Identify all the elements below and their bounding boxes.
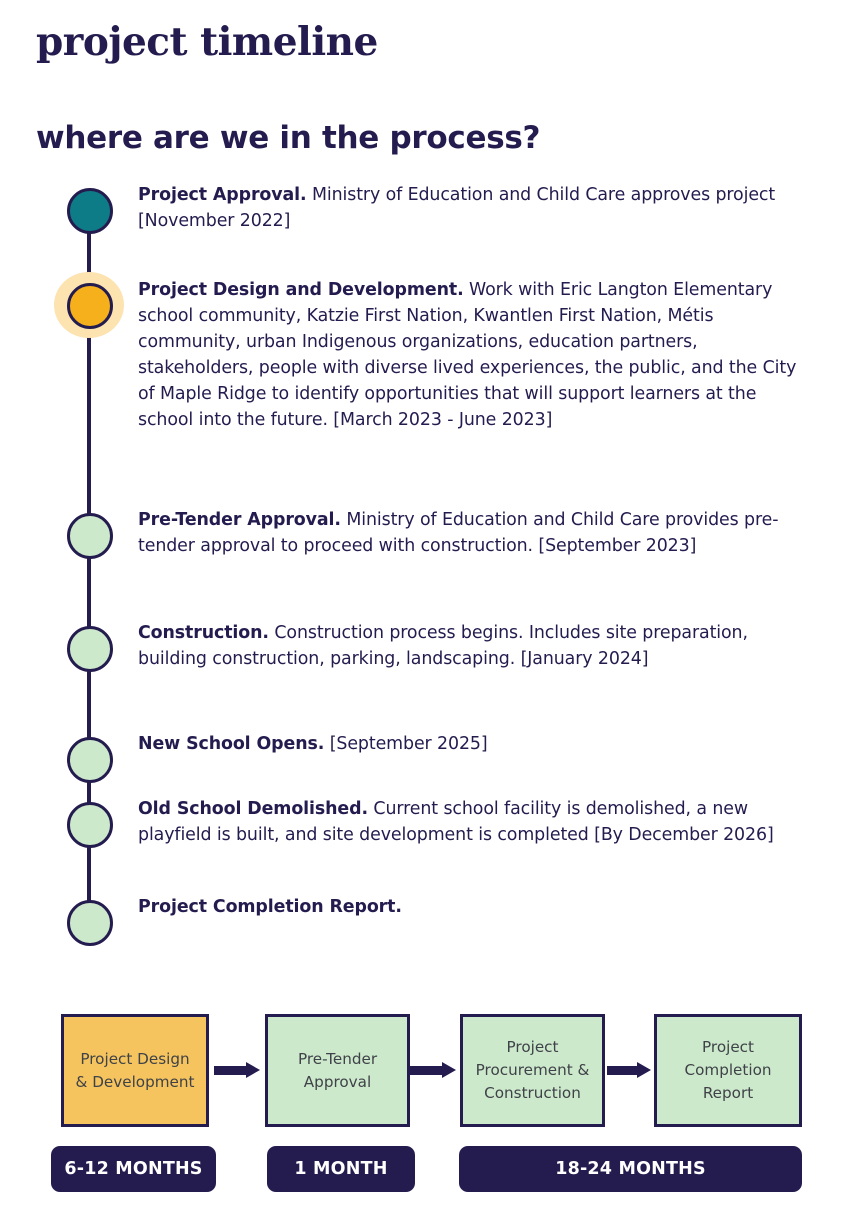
arrow-shaft bbox=[410, 1066, 443, 1075]
timeline-item-text: Project Completion Report. bbox=[138, 894, 798, 920]
timeline-marker bbox=[65, 800, 113, 848]
flow-box: Project Completion Report bbox=[654, 1014, 802, 1127]
page-title: project timeline bbox=[36, 21, 378, 64]
arrow-shaft bbox=[214, 1066, 247, 1075]
flow-box-label: Project Completion Report bbox=[685, 1036, 772, 1105]
mint-dot-icon bbox=[67, 513, 113, 559]
timeline-marker bbox=[65, 186, 113, 234]
timeline-item-text: Construction. Construction process begin… bbox=[138, 620, 798, 672]
arrow-shaft bbox=[607, 1066, 638, 1075]
timeline-item-heading: Old School Demolished. bbox=[138, 799, 368, 819]
timeline-item-text: New School Opens. [September 2025] bbox=[138, 731, 798, 757]
timeline-item-heading: Project Completion Report. bbox=[138, 897, 402, 917]
timeline-item-description: [September 2025] bbox=[324, 734, 487, 754]
timeline-item-heading: Construction. bbox=[138, 623, 269, 643]
flow-box: Pre-Tender Approval bbox=[265, 1014, 410, 1127]
flow-box-label: Pre-Tender Approval bbox=[298, 1048, 377, 1094]
duration-pill-row: 6-12 MONTHS1 MONTH18-24 MONTHS bbox=[0, 1146, 850, 1192]
flow-box-label: Project Design & Development bbox=[76, 1048, 195, 1094]
timeline-marker bbox=[65, 281, 113, 329]
amber-dot-icon bbox=[67, 283, 113, 329]
arrow-head bbox=[246, 1062, 260, 1078]
timeline-marker bbox=[65, 511, 113, 559]
timeline-marker bbox=[65, 735, 113, 783]
page-subtitle: where are we in the process? bbox=[36, 120, 540, 156]
arrow-head bbox=[637, 1062, 651, 1078]
flow-box: Project Design & Development bbox=[61, 1014, 209, 1127]
duration-pill: 6-12 MONTHS bbox=[51, 1146, 216, 1192]
timeline-marker bbox=[65, 898, 113, 946]
timeline-item-text: Project Approval. Ministry of Education … bbox=[138, 182, 798, 234]
mint-dot-icon bbox=[67, 900, 113, 946]
timeline-item-text: Project Design and Development. Work wit… bbox=[138, 277, 798, 433]
timeline-item-text: Pre-Tender Approval. Ministry of Educati… bbox=[138, 507, 798, 559]
flow-box-label: Project Procurement & Construction bbox=[476, 1036, 590, 1105]
timeline-item-heading: Project Design and Development. bbox=[138, 280, 464, 300]
flow-arrow-icon bbox=[214, 1062, 260, 1078]
timeline-item-description: Work with Eric Langton Elementary school… bbox=[138, 280, 796, 430]
duration-pill: 18-24 MONTHS bbox=[459, 1146, 802, 1192]
arrow-head bbox=[442, 1062, 456, 1078]
flow-box: Project Procurement & Construction bbox=[460, 1014, 605, 1127]
timeline-item-heading: Pre-Tender Approval. bbox=[138, 510, 341, 530]
duration-pill: 1 MONTH bbox=[267, 1146, 415, 1192]
timeline-marker bbox=[65, 624, 113, 672]
mint-dot-icon bbox=[67, 737, 113, 783]
process-flow-diagram: Project Design & DevelopmentPre-Tender A… bbox=[0, 1014, 850, 1139]
timeline-item-text: Old School Demolished. Current school fa… bbox=[138, 796, 798, 848]
flow-arrow-icon bbox=[410, 1062, 456, 1078]
teal-dot-icon bbox=[67, 188, 113, 234]
flow-arrow-icon bbox=[607, 1062, 651, 1078]
mint-dot-icon bbox=[67, 626, 113, 672]
mint-dot-icon bbox=[67, 802, 113, 848]
timeline-item-heading: New School Opens. bbox=[138, 734, 324, 754]
timeline-item-heading: Project Approval. bbox=[138, 185, 307, 205]
